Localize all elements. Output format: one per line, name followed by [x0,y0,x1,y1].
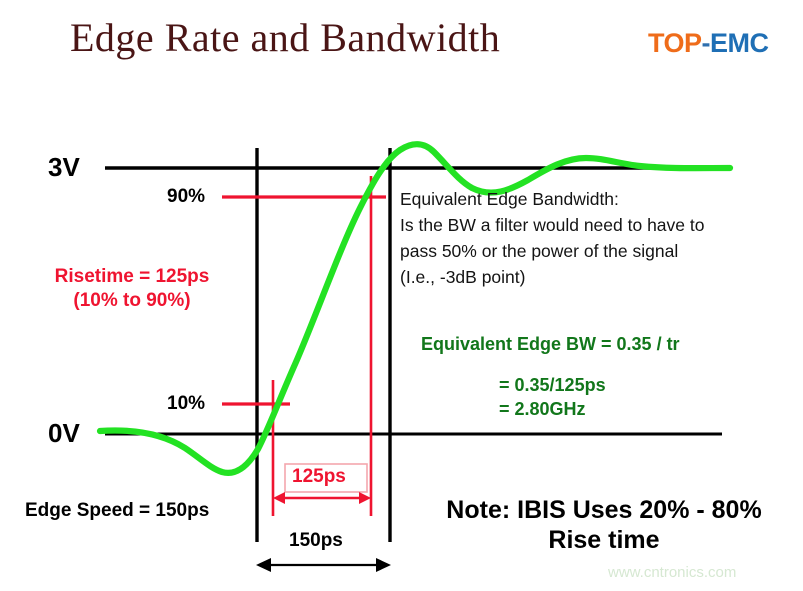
edge-speed-label: Edge Speed = 150ps [25,500,209,522]
label-90-percent: 90% [167,186,205,208]
risetime-line-1: Risetime = 125ps [22,265,242,289]
bandwidth-equation: Equivalent Edge BW = 0.35 / tr = 0.35/12… [421,333,680,421]
ibis-note: Note: IBIS Uses 20% - 80% Rise time [414,496,794,555]
dim-150ps-arrowhead-right [376,558,391,572]
equation-line-1: Equivalent Edge BW = 0.35 / tr [421,333,680,356]
ibis-note-line-1: Note: IBIS Uses 20% - 80% [414,496,794,526]
bandwidth-description: Equivalent Edge Bandwidth: Is the BW a f… [400,187,704,291]
bandwidth-line-2: Is the BW a filter would need to have to [400,213,704,239]
axis-label-0v: 0V [48,418,80,449]
equation-line-3: = 2.80GHz [499,398,680,421]
slide-canvas: Edge Rate and Bandwidth TOP-EMC [0,0,803,591]
dim-125ps-arrowhead-right [359,492,371,504]
bandwidth-line-4: (I.e., -3dB point) [400,265,704,291]
dim-150ps-label: 150ps [289,530,343,552]
risetime-line-2: (10% to 90%) [22,289,242,313]
watermark-text: www.cntronics.com [608,564,736,581]
bandwidth-line-3: pass 50% or the power of the signal [400,239,704,265]
label-10-percent: 10% [167,393,205,415]
axis-label-3v: 3V [48,152,80,183]
dim-150ps-arrowhead-left [256,558,271,572]
equation-line-2: = 0.35/125ps [499,374,680,397]
bandwidth-line-1: Equivalent Edge Bandwidth: [400,187,704,213]
dim-125ps-arrowhead-left [273,492,285,504]
risetime-annotation: Risetime = 125ps (10% to 90%) [22,265,242,314]
dim-125ps-label: 125ps [292,466,346,488]
ibis-note-line-2: Rise time [414,526,794,556]
